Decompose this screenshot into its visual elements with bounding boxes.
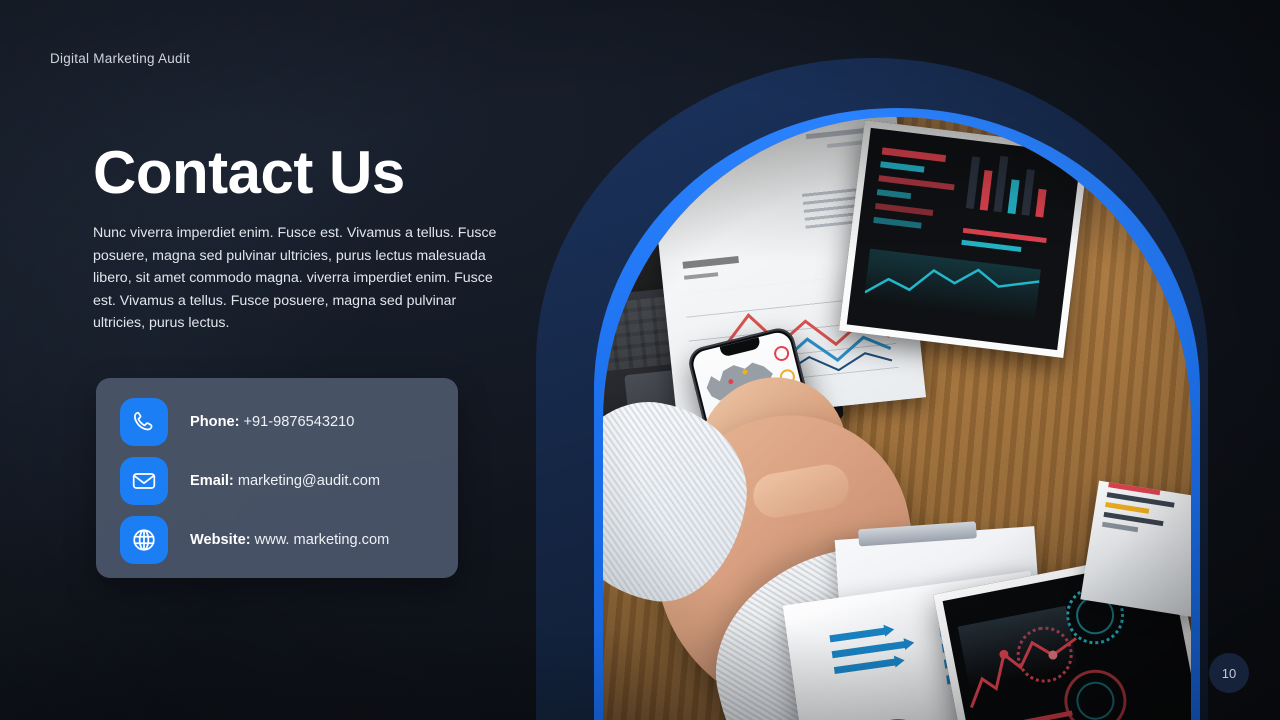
- arch-artwork: [536, 58, 1280, 720]
- hero-photo: [603, 117, 1191, 720]
- body-paragraph: Nunc viverra imperdiet enim. Fusce est. …: [93, 222, 497, 335]
- contact-label-phone: Phone:: [190, 414, 239, 430]
- contact-row-email[interactable]: Email: marketing@audit.com: [120, 457, 458, 505]
- page-number-badge: 10: [1209, 653, 1249, 693]
- contact-text-phone: Phone: +91-9876543210: [190, 414, 354, 430]
- contact-label-website: Website:: [190, 532, 251, 548]
- photo-paper-sliver: [1080, 481, 1191, 618]
- contact-text-website: Website: www. marketing.com: [190, 532, 389, 548]
- contact-value-phone: +91-9876543210: [244, 414, 355, 430]
- phone-icon: [120, 398, 168, 446]
- contact-value-email: marketing@audit.com: [238, 473, 380, 489]
- slide-canvas: Digital Marketing Audit Contact Us Nunc …: [0, 0, 1280, 720]
- contact-text-email: Email: marketing@audit.com: [190, 473, 380, 489]
- contact-value-website: www. marketing.com: [255, 532, 390, 548]
- slide-kicker: Digital Marketing Audit: [50, 51, 190, 66]
- photo-dark-poster-top: [839, 120, 1089, 358]
- page-title: Contact Us: [93, 141, 405, 204]
- contact-card: Phone: +91-9876543210 Email: marketing@a…: [96, 378, 458, 578]
- contact-row-phone[interactable]: Phone: +91-9876543210: [120, 398, 458, 446]
- contact-label-email: Email:: [190, 473, 234, 489]
- website-icon: [120, 516, 168, 564]
- email-icon: [120, 457, 168, 505]
- contact-row-website[interactable]: Website: www. marketing.com: [120, 516, 458, 564]
